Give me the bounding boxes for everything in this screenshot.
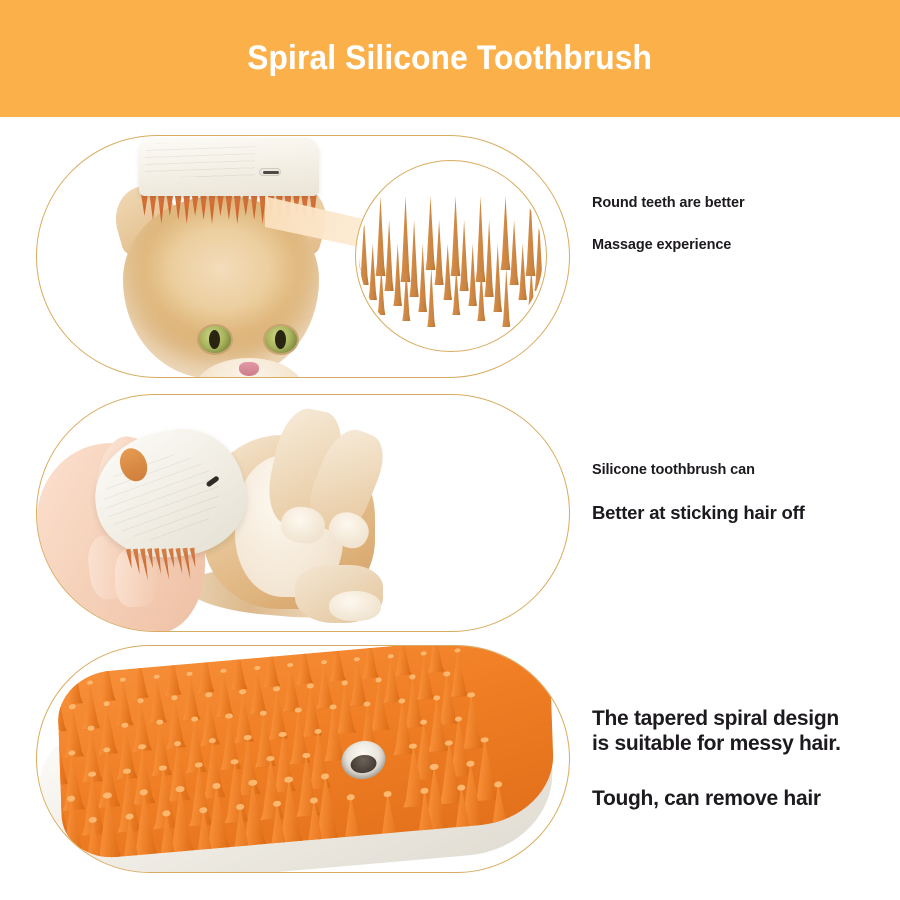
silicone-cone-tip [136,653,142,657]
magnified-teeth-inset-inner [359,164,543,348]
silicone-cone-tip [187,671,193,676]
cat-nose [239,362,259,376]
feature-section-round-teeth: Round teeth are better Massage experienc… [0,133,900,383]
pupil-right [275,330,286,349]
silicone-cone-tip [467,692,474,698]
silicone-cone [146,675,169,725]
silicone-cone-tip [122,723,129,729]
silicone-cone-tip [341,681,348,686]
silicone-cone-tip [388,654,394,659]
silicone-cone [112,677,135,727]
magnified-spike [424,196,437,270]
silicone-cone-tip [254,665,260,670]
silicone-cone-tip [287,662,293,667]
brush-tooth [175,194,182,220]
magnified-spike [399,196,412,282]
brush-tooth [200,194,207,220]
silicone-cone-tip [295,707,302,713]
feature-section-tapered-spiral: The tapered spiral design is suitable fo… [0,645,900,875]
silicone-cone-tip [321,773,330,780]
silicone-cone-tip [433,695,440,701]
silicone-cone-tip [419,719,427,725]
feature-3-line-3: Tough, can remove hair [592,787,841,812]
silicone-cone-tip [346,794,355,801]
silicone-cone [392,646,413,676]
brush-tooth-2 [147,548,155,569]
silicone-cone-tip [57,729,60,735]
silicone-cone [326,646,347,682]
silicone-cone-tip [421,651,427,656]
image-panel-2 [36,394,570,632]
header-banner: Spiral Silicone Toothbrush [0,0,900,117]
brush-tooth [183,194,190,224]
silicone-cone [293,646,314,685]
silicone-cone [79,680,102,730]
silicone-cone-tip [57,683,60,688]
brush-head-closeup [37,646,569,872]
silicone-cone-tip [321,660,327,665]
silicone-cone-tip [457,784,466,791]
silicone-cone-tip [364,701,371,707]
image-panel-3 [36,645,570,873]
silicone-cone [260,646,281,688]
feature-3-line-2: is suitable for messy hair. [592,732,841,757]
silicone-cone-tip [455,716,463,722]
magnified-spike [492,244,503,312]
feature-text-3: The tapered spiral design is suitable fo… [592,707,841,811]
image-panel-2-clip [37,395,569,631]
silicone-cone-tip [302,752,310,758]
feature-3-line-1: The tapered spiral design [592,707,841,732]
silicone-cone [162,650,183,696]
magnified-spike [433,220,445,285]
magnified-spike [408,220,420,297]
device-ridges-2 [98,447,225,548]
feature-1-line-2: Massage experience [592,237,745,253]
silicone-cone-tip [156,719,163,725]
magnified-spike [533,220,543,291]
feature-text-2: Silicone toothbrush can Better at sticki… [592,462,805,524]
silicone-cone [63,659,84,705]
silicone-cone-tip [239,689,246,694]
silicone-cone-tip [398,698,405,704]
silicone-cone-tip [329,704,336,710]
magnified-spike [383,220,395,291]
silicone-cone [359,646,380,679]
magnified-spike [499,196,512,270]
silicone-cone-tip [171,695,178,700]
silicone-cone-tip [191,716,198,722]
silicone-cone-tip [481,737,489,743]
magnified-teeth-inset [355,160,547,352]
page-title: Spiral Silicone Toothbrush [248,39,653,78]
cat-paw-bottom [329,591,381,621]
feature-2-line-2: Better at sticking hair off [592,502,805,524]
silicone-cone-tip [205,692,212,697]
silicone-cone [231,690,256,744]
cat-muzzle [195,358,303,377]
brush-tooth-2 [168,548,176,569]
silicone-cone [425,646,446,673]
magnified-spike [417,244,428,312]
silicone-cone-tip [87,726,94,732]
silicone-cone-tip [466,761,475,768]
brush-tooth [217,194,224,216]
silicone-cone-tip [69,704,76,709]
magnified-spike [458,220,470,291]
silicone-cone-tip [307,684,314,689]
brush-tooth [192,194,199,216]
brush-tooth [225,194,232,220]
silicone-cone-tip [445,740,453,746]
silicone-cone-tip [309,797,318,804]
magnified-spike [374,196,387,276]
product-infographic-page: Spiral Silicone Toothbrush [0,0,900,900]
magnified-spike [359,196,362,270]
brush-tooth [251,194,258,220]
cat-eye-left [197,324,233,355]
silicone-cone-tip [443,672,450,677]
silicone-spike-field [359,190,543,348]
feature-2-line-1: Silicone toothbrush can [592,462,805,478]
silicone-cone-tip [137,698,144,703]
silicone-cone-tip [409,675,416,680]
brush-tooth [149,194,156,220]
brush-center-hole [341,739,386,781]
brush-tooth [242,194,249,216]
silicone-cone-tip [454,648,460,653]
magnified-spike [426,268,437,327]
silicone-cone [447,648,470,698]
silicone-cone-tip [420,787,429,794]
brush-tooth [209,194,216,224]
silicone-cone-tip [375,678,382,683]
brush-tooth [141,194,148,216]
cat-head-photo [87,138,357,377]
magnified-spike [483,220,495,297]
usb-port-icon [259,168,281,176]
magnified-spike [359,220,370,285]
silicone-cone-tip [120,677,126,682]
silicone-cone [57,683,69,733]
silicone-cone-tip [409,743,417,749]
silicone-cone-tip [70,659,76,663]
image-panel-3-clip [37,646,569,872]
silicone-cone-tip [103,701,110,706]
silicone-cone-tip [87,680,93,685]
silicone-cone [246,666,269,716]
feature-text-1: Round teeth are better Massage experienc… [592,195,745,253]
brush-tooth-2 [189,547,197,568]
silicone-cone-tip [103,656,109,660]
device-ridges [145,143,255,177]
silicone-cone [213,669,236,719]
silicone-cone-tip [354,657,360,662]
silicone-cone-tip [153,674,159,679]
silicone-cone-tip [430,764,439,771]
silicone-cone-tip [260,710,267,716]
silicone-cone [96,656,117,702]
magnified-spike [524,196,537,276]
pupil-left [209,330,220,349]
brush-tooth [166,194,173,216]
silicone-cone-tip [225,713,232,719]
brush-tooth [234,194,241,224]
image-panel-1 [36,135,570,378]
silicone-cone [195,648,216,694]
silicone-cone-tip [202,647,208,651]
magnified-spike [449,196,462,276]
silicone-cone-tip [494,781,503,788]
silicone-cone-tip [273,686,280,691]
silicone-cone-tip [169,650,175,654]
silicone-cone [228,646,249,690]
magnified-spike [474,196,487,282]
silicone-cone [129,653,150,699]
magnified-spike [508,220,520,285]
silicone-cone-tip [383,791,392,798]
silicone-cone-tip [235,646,241,649]
image-panel-1-clip [37,136,569,377]
silicone-cone [179,672,202,722]
feature-section-sticking-hair: Silicone toothbrush can Better at sticki… [0,392,900,635]
feature-1-line-1: Round teeth are better [592,195,745,211]
magnified-spike [501,268,512,327]
brush-tooth [158,194,165,224]
silicone-cone-tip [220,668,226,673]
silicone-cone [279,663,302,713]
steam-brush-device [139,138,319,196]
cat-eye-right [263,324,299,355]
